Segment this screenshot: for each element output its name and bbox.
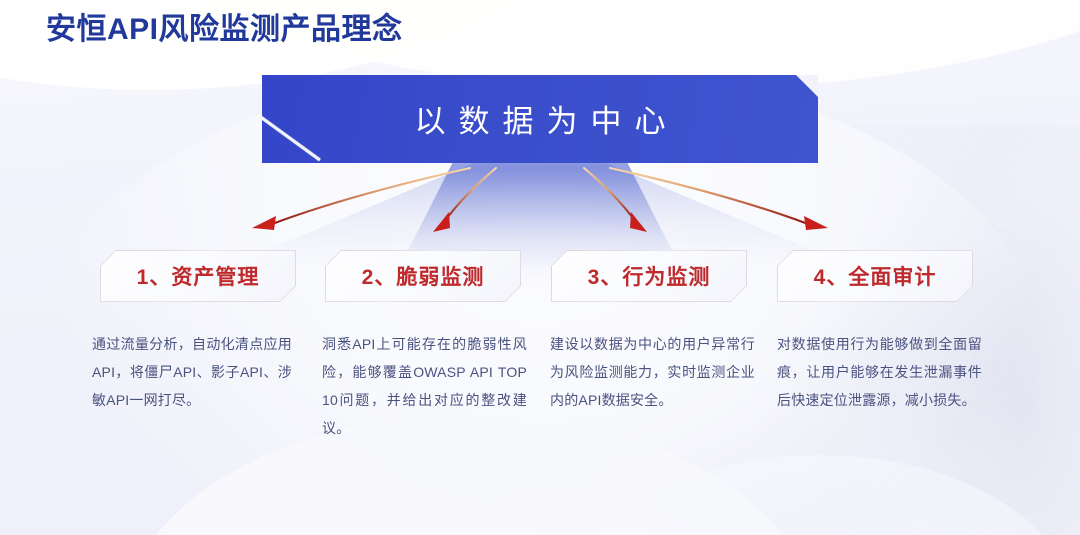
center-banner: 以数据为中心 [262, 75, 818, 163]
card-header-2-label: 2、脆弱监测 [325, 250, 521, 302]
card-header-3-label: 3、行为监测 [551, 250, 747, 302]
card-header-3[interactable]: 3、行为监测 [551, 250, 747, 302]
card-header-4-label: 4、全面审计 [777, 250, 973, 302]
page-title: 安恒API风险监测产品理念 [46, 4, 403, 48]
card-header-1-label: 1、资产管理 [100, 250, 296, 302]
card-body-1: 通过流量分析，自动化清点应用API，将僵尸API、影子API、涉敏API一网打尽… [92, 330, 292, 414]
card-body-4: 对数据使用行为能够做到全面留痕，让用户能够在发生泄漏事件后快速定位泄露源，减小损… [777, 330, 982, 414]
card-header-row: 1、资产管理 2、脆弱监测 3、行为监测 4、全面审计 [0, 250, 1080, 302]
card-body-2: 洞悉API上可能存在的脆弱性风险，能够覆盖OWASP API TOP 10问题，… [322, 330, 527, 442]
slide-canvas: 安恒API风险监测产品理念 以数据为中心 [0, 0, 1080, 535]
card-header-4[interactable]: 4、全面审计 [777, 250, 973, 302]
card-body-3: 建设以数据为中心的用户异常行为风险监测能力，实时监测企业内的API数据安全。 [550, 330, 755, 414]
center-banner-label: 以数据为中心 [262, 75, 818, 163]
card-header-2[interactable]: 2、脆弱监测 [325, 250, 521, 302]
card-header-1[interactable]: 1、资产管理 [100, 250, 296, 302]
